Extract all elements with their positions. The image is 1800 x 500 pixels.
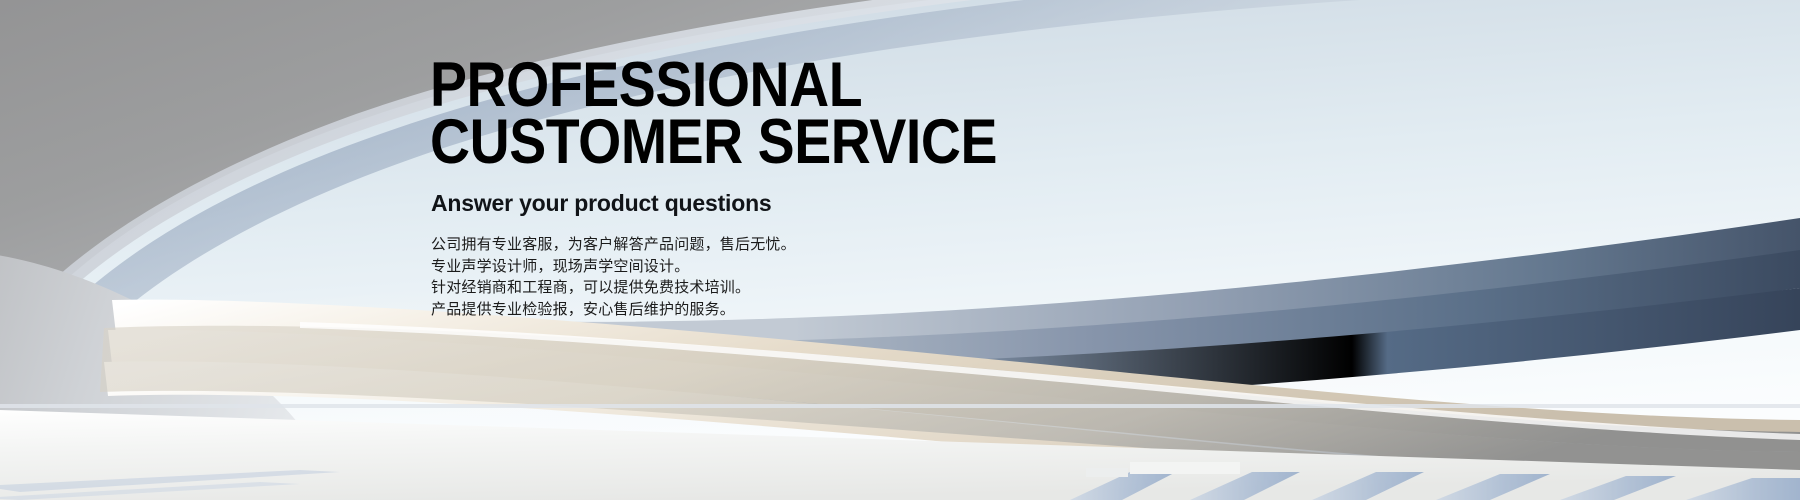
headline-line-2: CUSTOMER SERVICE — [430, 112, 997, 172]
banner-hero: PROFESSIONAL CUSTOMER SERVICE Answer you… — [0, 0, 1800, 500]
body-line-3: 针对经销商和工程商，可以提供免费技术培训。 — [431, 277, 796, 299]
banner-subtitle: Answer your product questions — [431, 190, 772, 217]
body-line-4: 产品提供专业检验报，安心售后维护的服务。 — [431, 299, 796, 321]
banner-content: PROFESSIONAL CUSTOMER SERVICE Answer you… — [430, 0, 1430, 500]
banner-body-list: 公司拥有专业客服，为客户解答产品问题，售后无忧。 专业声学设计师，现场声学空间设… — [431, 234, 796, 320]
body-line-2: 专业声学设计师，现场声学空间设计。 — [431, 256, 796, 278]
body-line-1: 公司拥有专业客服，为客户解答产品问题，售后无忧。 — [431, 234, 796, 256]
